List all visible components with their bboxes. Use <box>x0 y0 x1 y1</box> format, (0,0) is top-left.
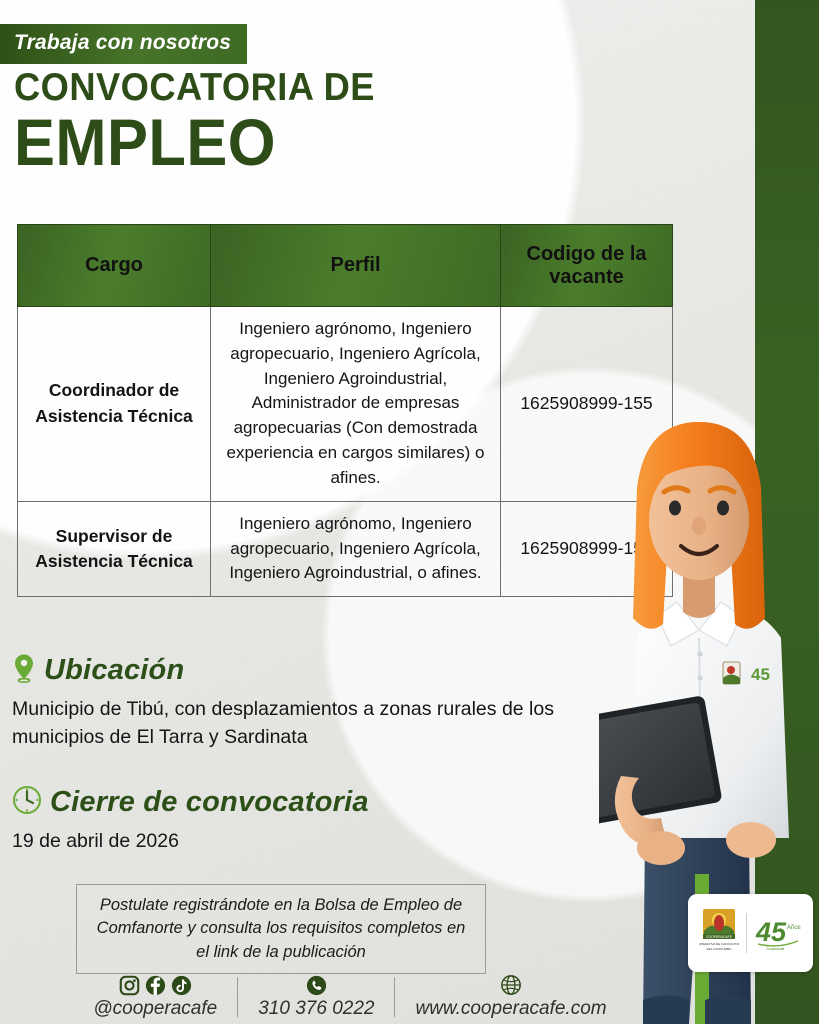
row-0-perfil: Ingeniero agrónomo, Ingeniero agropecuar… <box>211 307 501 502</box>
headline-line-1: CONVOCATORIA DE <box>14 68 375 107</box>
table-body: Coordinador de Asistencia Técnica Ingeni… <box>18 307 673 597</box>
map-pin-icon <box>12 653 36 688</box>
instruction-note: Postulate registrándote en la Bolsa de E… <box>76 884 486 974</box>
closing-date-section: Cierre de convocatoria 19 de abril de 20… <box>12 785 369 855</box>
instruction-note-text: Postulate registrándote en la Bolsa de E… <box>97 896 466 961</box>
footer-divider <box>237 977 238 1017</box>
website-url: www.cooperacafe.com <box>415 998 606 1020</box>
instagram-icon[interactable] <box>119 975 140 996</box>
page-title: CONVOCATORIA DE EMPLEO <box>14 68 402 176</box>
anniversary-45-icon: 45 Años Cooperacafe <box>754 913 802 953</box>
work-with-us-badge: Trabaja con nosotros <box>0 24 247 64</box>
phone-number: 310 376 0222 <box>258 998 374 1020</box>
cooperacafe-logo-icon: COOPERACAFE COOPERATIVA DE CAFICULTORES … <box>699 907 739 959</box>
footer-phone[interactable]: 310 376 0222 <box>258 975 374 1020</box>
facebook-icon[interactable] <box>145 975 166 996</box>
table-row: Coordinador de Asistencia Técnica Ingeni… <box>18 307 673 502</box>
closing-date-heading: Cierre de convocatoria <box>12 785 369 820</box>
phone-icon[interactable] <box>306 975 327 996</box>
closing-date-title: Cierre de convocatoria <box>50 786 369 819</box>
table-row: Supervisor de Asistencia Técnica Ingenie… <box>18 501 673 596</box>
closing-date-body: 19 de abril de 2026 <box>12 827 369 855</box>
logo-brand-text: COOPERACAFE <box>706 935 733 939</box>
footer-web[interactable]: www.cooperacafe.com <box>415 974 606 1020</box>
brand-logo-card: COOPERACAFE COOPERATIVA DE CAFICULTORES … <box>688 894 813 972</box>
svg-text:Cooperacafe: Cooperacafe <box>766 947 784 951</box>
globe-icon[interactable] <box>500 974 522 996</box>
headline-line-2: EMPLEO <box>14 109 375 176</box>
clock-icon <box>12 785 42 820</box>
social-handle: @cooperacafe <box>93 998 217 1020</box>
location-body: Municipio de Tibú, con desplazamientos a… <box>12 695 622 752</box>
row-0-cargo: Coordinador de Asistencia Técnica <box>18 307 211 502</box>
badge-label: Trabaja con nosotros <box>14 31 231 54</box>
table-header-row: Cargo Perfil Codigo de la vacante <box>18 225 673 307</box>
svg-text:Años: Años <box>787 925 801 931</box>
social-icon-group <box>119 975 192 996</box>
table-header: Cargo Perfil Codigo de la vacante <box>18 225 673 307</box>
row-1-cargo: Supervisor de Asistencia Técnica <box>18 501 211 596</box>
footer-divider <box>394 977 395 1017</box>
tiktok-icon[interactable] <box>171 975 192 996</box>
poster-canvas: Trabaja con nosotros CONVOCATORIA DE EMP… <box>0 0 819 1024</box>
header-cargo: Cargo <box>18 225 211 307</box>
header-perfil: Perfil <box>211 225 501 307</box>
svg-text:45: 45 <box>751 665 770 684</box>
footer-social[interactable]: @cooperacafe <box>93 975 217 1020</box>
row-1-perfil: Ingeniero agrónomo, Ingeniero agropecuar… <box>211 501 501 596</box>
location-section: Ubicación Municipio de Tibú, con desplaz… <box>12 653 622 752</box>
svg-text:45: 45 <box>755 917 787 947</box>
location-title: Ubicación <box>44 654 184 687</box>
header-codigo: Codigo de la vacante <box>501 225 673 307</box>
svg-text:COOPERATIVA DE CAFICULTORES: COOPERATIVA DE CAFICULTORES <box>699 942 739 946</box>
footer-bar: @cooperacafe 310 376 0222 www.cooperacaf… <box>0 974 700 1020</box>
location-heading: Ubicación <box>12 653 622 688</box>
logo-divider <box>746 913 747 953</box>
svg-text:DEL CATATUMBO: DEL CATATUMBO <box>707 947 732 951</box>
vacancies-table: Cargo Perfil Codigo de la vacante Coordi… <box>17 224 673 597</box>
